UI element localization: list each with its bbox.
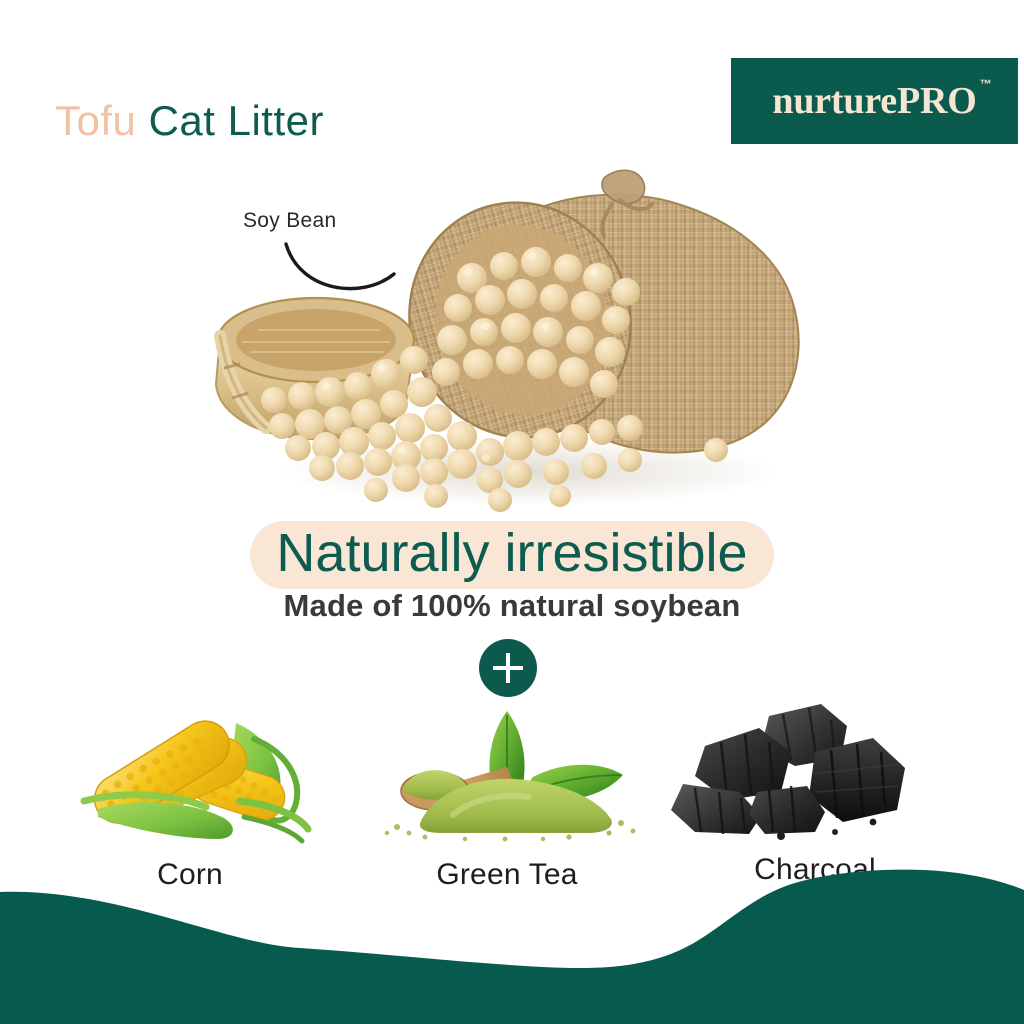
green-tea-icon	[357, 705, 657, 845]
soybean-sack-illustration	[200, 160, 820, 520]
ingredient-charcoal: Charcoal	[665, 700, 965, 887]
page-title: Tofu Cat Litter	[55, 97, 324, 145]
headline-text: Naturally irresistible	[276, 523, 747, 583]
page-title-secondary: Cat Litter	[149, 97, 324, 144]
brand-logo: nurturePRO™	[731, 58, 1018, 144]
headline-container: Naturally irresistible	[0, 520, 1024, 590]
page-title-primary: Tofu	[55, 97, 136, 144]
corn-icon	[40, 705, 340, 845]
poster-canvas: Tofu Cat Litter nurturePRO™ Soy Bean	[0, 0, 1024, 1024]
plus-icon	[479, 639, 537, 697]
headline-highlight-band: Naturally irresistible	[250, 521, 773, 590]
brand-logo-part2: PRO	[897, 80, 977, 122]
trademark-icon: ™	[980, 77, 992, 91]
charcoal-icon	[665, 700, 965, 840]
bottom-wave-decoration	[0, 864, 1024, 1024]
subheadline-text: Made of 100% natural soybean	[0, 588, 1024, 624]
brand-logo-part1: nurture	[772, 80, 897, 122]
brand-logo-text: nurturePRO™	[772, 79, 976, 123]
